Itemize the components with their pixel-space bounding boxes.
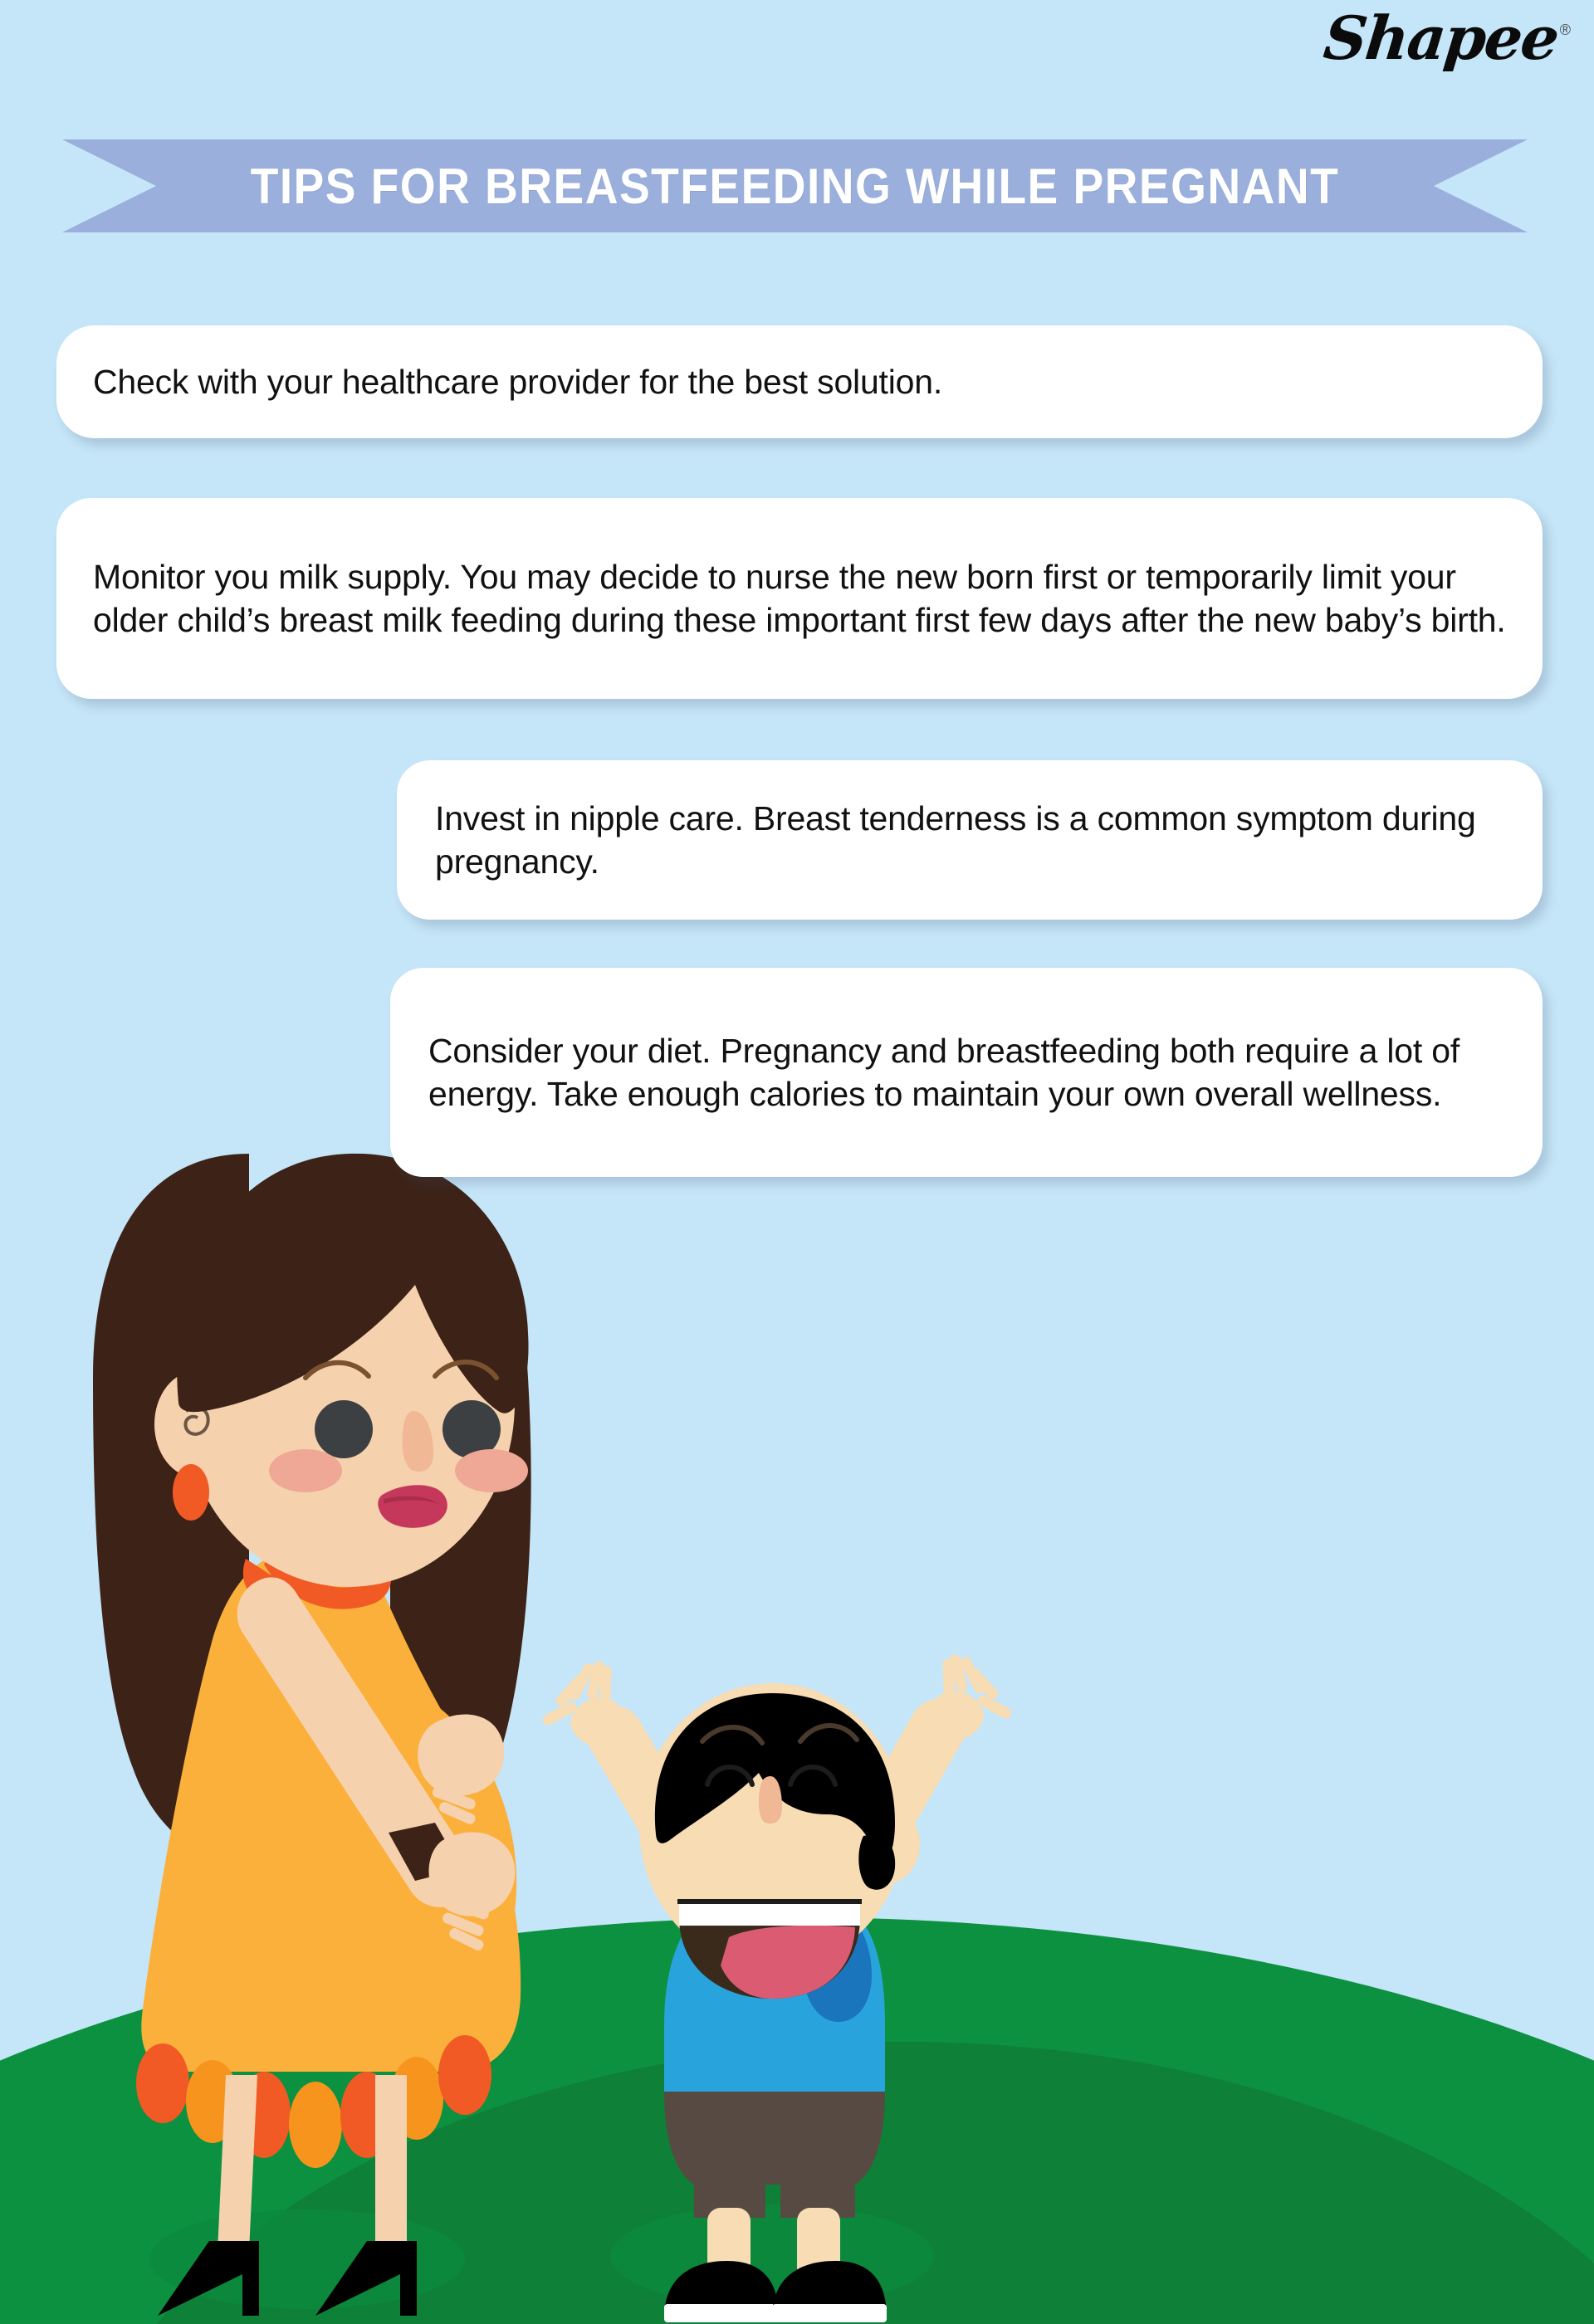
hem-petal	[289, 2082, 342, 2168]
boy-hand-right	[929, 1653, 1014, 1740]
tip-card-2: Monitor you milk supply. You may decide …	[56, 498, 1543, 699]
brand-wordmark: Shapee	[1321, 8, 1561, 68]
tip-card-3: Invest in nipple care. Breast tenderness…	[397, 760, 1543, 920]
boy-teeth	[679, 1902, 860, 1926]
page-title: TIPS FOR BREASTFEEDING WHILE PREGNANT	[121, 139, 1469, 232]
woman-cheek-right	[455, 1449, 528, 1492]
woman-earring	[173, 1464, 209, 1521]
brand-logo: Shapee ®	[1324, 8, 1571, 68]
title-banner: TIPS FOR BREASTFEEDING WHILE PREGNANT	[62, 139, 1528, 232]
boy-mouth-top-edge	[677, 1899, 862, 1904]
registered-trademark-icon: ®	[1560, 22, 1571, 39]
woman-leg-right	[375, 2075, 407, 2251]
tip-card-1: Check with your healthcare provider for …	[56, 325, 1543, 438]
tip-card-4: Consider your diet. Pregnancy and breast…	[390, 968, 1543, 1177]
hem-petal	[438, 2035, 491, 2115]
woman-eye-left	[315, 1400, 373, 1458]
boy-shorts	[664, 2092, 885, 2218]
boy-hand-left	[541, 1660, 626, 1746]
woman-cheek-left	[269, 1449, 342, 1492]
tip-card-2-text: Monitor you milk supply. You may decide …	[93, 555, 1506, 642]
pregnant-woman-figure	[93, 1154, 531, 2316]
tip-card-3-text: Invest in nipple care. Breast tenderness…	[435, 797, 1504, 884]
tip-card-1-text: Check with your healthcare provider for …	[93, 360, 942, 403]
tip-card-4-text: Consider your diet. Pregnancy and breast…	[428, 1029, 1504, 1116]
infographic-poster: Shapee ® TIPS FOR BREASTFEEDING WHILE PR…	[0, 0, 1594, 2324]
hem-petal	[136, 2043, 189, 2123]
